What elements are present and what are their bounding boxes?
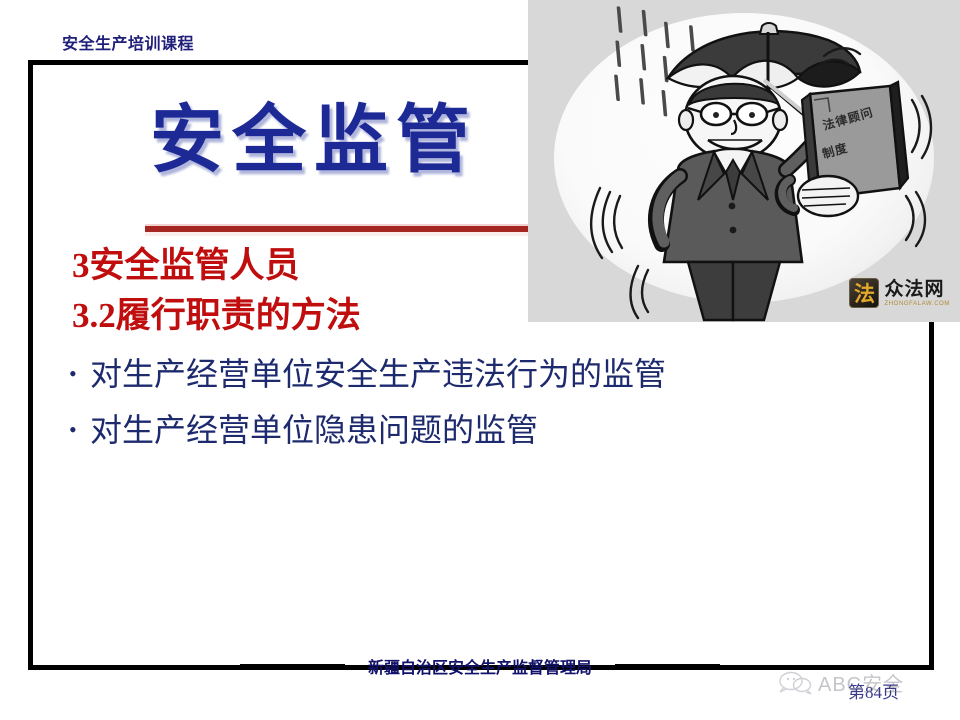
slide-footer: 新疆自治区安全生产监督管理局 xyxy=(240,652,720,680)
bullet-dot-icon: • xyxy=(66,408,90,452)
wechat-icon xyxy=(778,670,812,696)
footer-rule-right xyxy=(615,664,720,668)
list-item-label: 对生产经营单位隐患问题的监管 xyxy=(90,408,538,452)
bullet-dot-icon: • xyxy=(66,352,90,396)
list-item-label: 对生产经营单位安全生产违法行为的监管 xyxy=(90,352,666,396)
presentation-slide: 安全生产培训课程 安全监管 3安全监管人员 3.2履行职责的方法 • 对生产经营… xyxy=(0,0,960,720)
course-header-title: 安全生产培训课程 xyxy=(62,30,194,54)
section-heading-3-2: 3.2履行职责的方法 xyxy=(72,298,361,333)
logo-name-label: 众法网 xyxy=(884,280,950,299)
watermark-label: ABC安全 xyxy=(818,668,904,697)
footer-rule-left xyxy=(240,664,345,668)
page-title: 安全监管 xyxy=(150,104,478,178)
wechat-watermark: ABC安全 xyxy=(778,668,904,697)
logo-badge-icon: 法 xyxy=(849,278,879,308)
logo-url-label: ZHONGFALAW.COM xyxy=(884,301,950,307)
source-logo: 法 众法网 ZHONGFALAW.COM xyxy=(849,278,950,308)
cartoon-illustration-overlay: 法律顾问 制度 法 众法网 ZHONGFALAW.COM xyxy=(528,0,960,322)
section-heading-3: 3安全监管人员 xyxy=(72,248,300,283)
list-item: • 对生产经营单位安全生产违法行为的监管 xyxy=(66,352,906,396)
bullet-list: • 对生产经营单位安全生产违法行为的监管 • 对生产经营单位隐患问题的监管 xyxy=(66,352,906,464)
list-item: • 对生产经营单位隐患问题的监管 xyxy=(66,408,906,452)
businessman-with-umbrella-figure xyxy=(528,0,960,322)
footer-organization-label: 新疆自治区安全生产监督管理局 xyxy=(356,654,604,678)
logo-text-group: 众法网 ZHONGFALAW.COM xyxy=(884,280,950,307)
